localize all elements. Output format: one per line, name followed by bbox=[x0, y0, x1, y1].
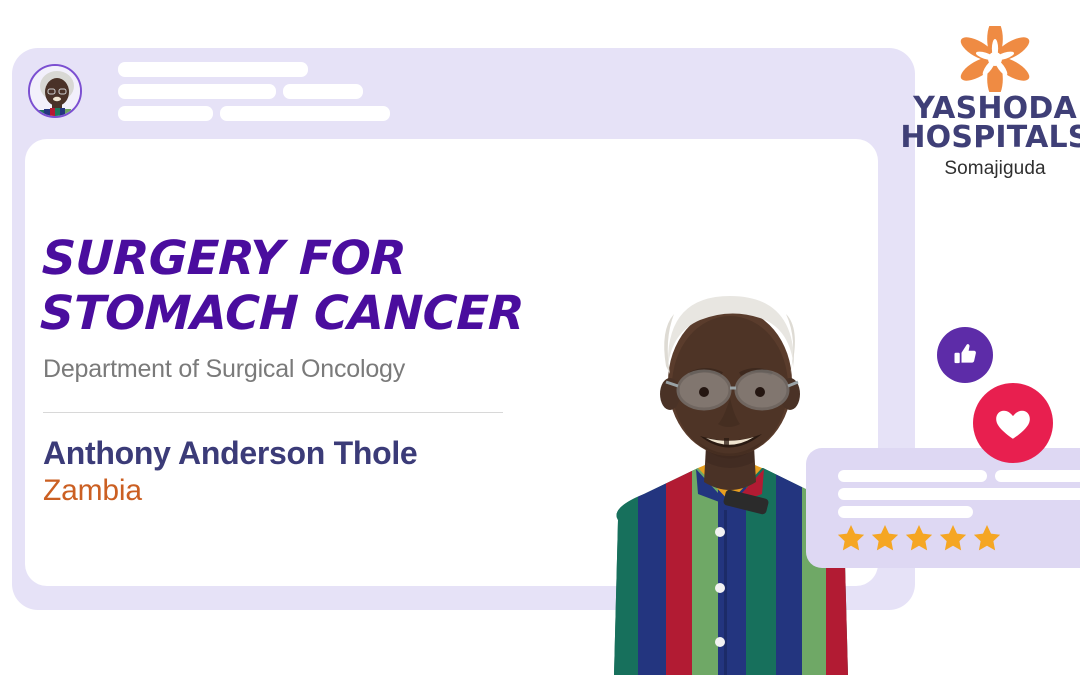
review-card bbox=[806, 448, 1080, 568]
placeholder-row bbox=[838, 506, 1080, 518]
divider bbox=[43, 412, 503, 413]
placeholder-row bbox=[838, 470, 1080, 482]
brand-logo: YASHODA HOSPITALS Somajiguda bbox=[900, 26, 1080, 180]
header-placeholder-lines bbox=[118, 62, 418, 128]
placeholder-bar bbox=[838, 488, 1080, 500]
star-icon bbox=[904, 523, 934, 553]
placeholder-bar bbox=[118, 106, 213, 121]
avatar bbox=[28, 64, 82, 118]
placeholder-bar bbox=[118, 84, 276, 99]
placeholder-row bbox=[118, 84, 418, 99]
placeholder-bar bbox=[838, 506, 973, 518]
testimonial-banner: SURGERY FOR STOMACH CANCER Department of… bbox=[0, 0, 1080, 675]
star-icon bbox=[972, 523, 1002, 553]
brand-branch: Somajiguda bbox=[900, 158, 1080, 180]
brand-name: YASHODA HOSPITALS bbox=[900, 94, 1080, 153]
placeholder-row bbox=[118, 106, 418, 121]
flower-icon bbox=[900, 26, 1080, 92]
placeholder-row bbox=[118, 62, 418, 77]
placeholder-row bbox=[838, 488, 1080, 500]
star-icon bbox=[870, 523, 900, 553]
review-placeholder-lines bbox=[838, 470, 1080, 524]
thumbs-up-icon bbox=[950, 340, 980, 370]
heart-icon bbox=[992, 402, 1034, 444]
like-badge[interactable] bbox=[937, 327, 993, 383]
placeholder-bar bbox=[118, 62, 308, 77]
placeholder-bar bbox=[995, 470, 1080, 482]
card-header bbox=[28, 62, 888, 124]
placeholder-bar bbox=[220, 106, 390, 121]
avatar-image bbox=[28, 64, 82, 118]
love-badge[interactable] bbox=[973, 383, 1053, 463]
star-icon bbox=[836, 523, 866, 553]
star-rating bbox=[836, 523, 1002, 553]
placeholder-bar bbox=[283, 84, 363, 99]
placeholder-bar bbox=[838, 470, 987, 482]
star-icon bbox=[938, 523, 968, 553]
